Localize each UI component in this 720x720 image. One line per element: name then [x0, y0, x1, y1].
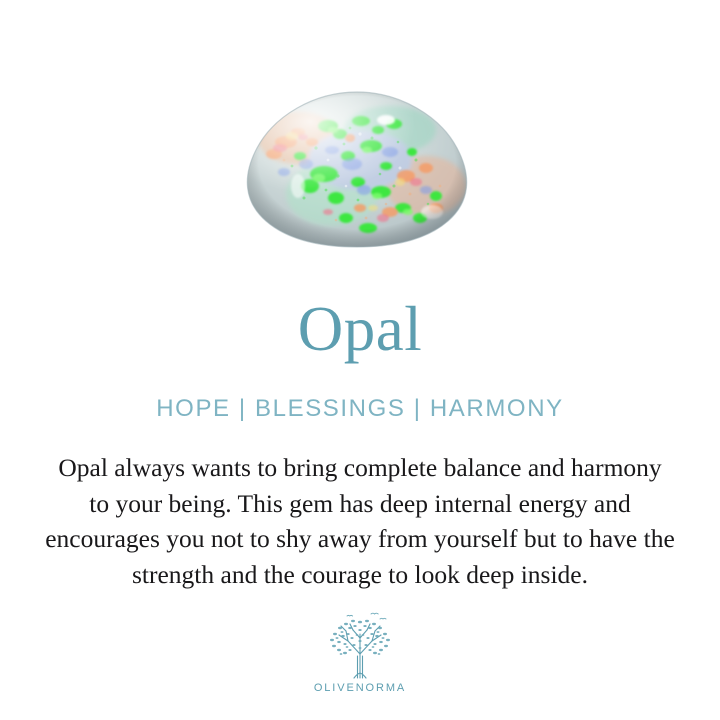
description-line-1: Opal always wants to bring complete bala… — [22, 450, 698, 486]
gemstone-title: Opal — [0, 298, 720, 361]
brand-wordmark: OLIVENORMA — [314, 682, 406, 694]
opal-cabochon-icon — [240, 90, 474, 248]
gemstone-keywords: HOPE | BLESSINGS | HARMONY — [0, 396, 720, 422]
gemstone-info-card: Opal HOPE | BLESSINGS | HARMONY Opal alw… — [0, 0, 720, 720]
olive-tree-logo-icon — [317, 608, 403, 680]
description-line-2: to your being. This gem has deep interna… — [22, 486, 698, 522]
description-line-4: strength and the courage to look deep in… — [22, 557, 698, 593]
brand-logo: OLIVENORMA — [0, 608, 720, 694]
gemstone-description: Opal always wants to bring complete bala… — [22, 450, 698, 592]
opal-gemstone-image — [240, 90, 474, 248]
description-line-3: encourages you not to shy away from your… — [22, 521, 698, 557]
